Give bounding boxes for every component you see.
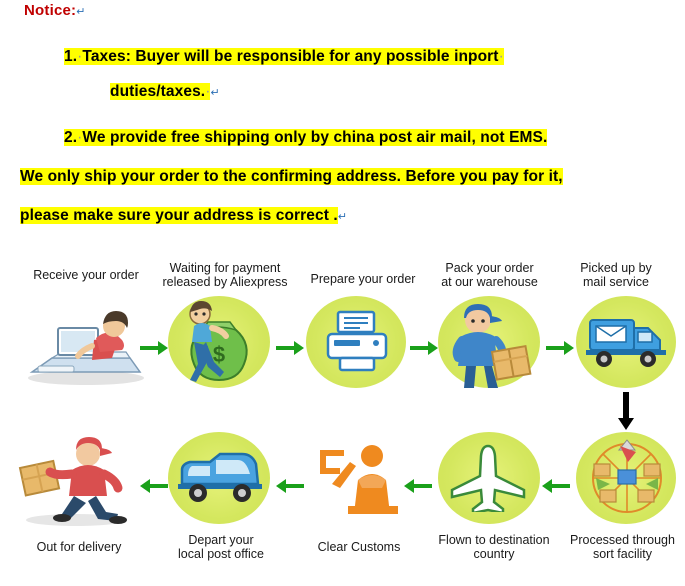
notice-item-2-number: 2.	[64, 129, 77, 146]
worker-with-box-icon	[440, 296, 540, 390]
notice-item-1-text: Taxes: Buyer will be responsible for any…	[82, 48, 498, 65]
notice-item-1-highlight: 1.·Taxes: Buyer will be responsible for …	[64, 48, 504, 65]
flow-label-pack-order: Pack your order at our warehouse	[422, 261, 557, 289]
flow-arrow-7	[276, 478, 304, 494]
pilcrow-mark: ↵	[338, 211, 347, 223]
flow-arrow-6	[404, 478, 432, 494]
notice-item-2-line-3-highlight: please make sure your address is correct…	[20, 207, 338, 224]
flow-label-waiting-payment: Waiting for payment released by Aliexpre…	[150, 261, 300, 289]
notice-item-2-line-1: 2.·We provide free shipping only by chin…	[64, 129, 547, 147]
pilcrow-mark: ↵	[76, 6, 85, 18]
notice-item-1-line-2-text: duties/taxes.	[110, 83, 205, 100]
notice-title: Notice:↵	[24, 2, 86, 19]
pilcrow-mark: ↵	[210, 87, 219, 99]
printer-icon	[322, 310, 392, 374]
notice-item-1-number: 1.	[64, 48, 77, 65]
flow-label-depart-post-office: Depart your local post office	[156, 533, 286, 561]
flow-arrow-down	[618, 392, 634, 430]
notice-page: Notice:↵ 1.·Taxes: Buyer will be respons…	[0, 0, 685, 586]
notice-item-2-line-2: We only ship your order to the confirmin…	[20, 168, 563, 186]
notice-title-text: Notice:	[24, 2, 76, 19]
flow-arrow-4	[546, 340, 574, 356]
notice-item-1-line-2: duties/taxes.·↵	[110, 83, 220, 101]
airplane-icon	[448, 444, 530, 512]
customs-officer-icon	[310, 440, 406, 520]
flow-label-picked-up: Picked up by mail service	[556, 261, 676, 289]
flow-arrow-2	[276, 340, 304, 356]
flow-label-prepare-order: Prepare your order	[293, 272, 433, 286]
person-at-computer-icon	[22, 300, 150, 390]
flow-arrow-8	[140, 478, 168, 494]
notice-item-2-line-3: please make sure your address is correct…	[20, 207, 347, 225]
flow-arrow-5	[542, 478, 570, 494]
notice-item-2-highlight: 2.·We provide free shipping only by chin…	[64, 129, 547, 146]
notice-item-1-line-1: 1.·Taxes: Buyer will be responsible for …	[64, 48, 504, 66]
notice-item-2-line-2-highlight: We only ship your order to the confirmin…	[20, 168, 563, 185]
flow-arrow-1	[140, 340, 168, 356]
mail-truck-icon	[586, 312, 670, 374]
sort-facility-icon	[580, 434, 674, 522]
notice-item-2-line-3-text: please make sure your address is correct…	[20, 207, 338, 224]
money-bag-runner-icon: $	[172, 296, 268, 390]
space-dot: ·	[499, 48, 504, 65]
notice-item-2-line-2-text: We only ship your order to the confirmin…	[20, 168, 563, 185]
courier-running-icon	[14, 428, 134, 528]
flow-label-clear-customs: Clear Customs	[294, 540, 424, 554]
flow-label-out-for-delivery: Out for delivery	[14, 540, 144, 554]
flow-arrow-3	[410, 340, 438, 356]
delivery-van-icon	[176, 450, 264, 508]
notice-item-1-line-2-highlight: duties/taxes.·	[110, 83, 210, 100]
flow-label-flown-destination: Flown to destination country	[424, 533, 564, 561]
flow-label-receive-order: Receive your order	[16, 268, 156, 282]
notice-item-2-text: We provide free shipping only by china p…	[82, 129, 547, 146]
flow-label-sort-facility: Processed through sort facility	[560, 533, 685, 561]
